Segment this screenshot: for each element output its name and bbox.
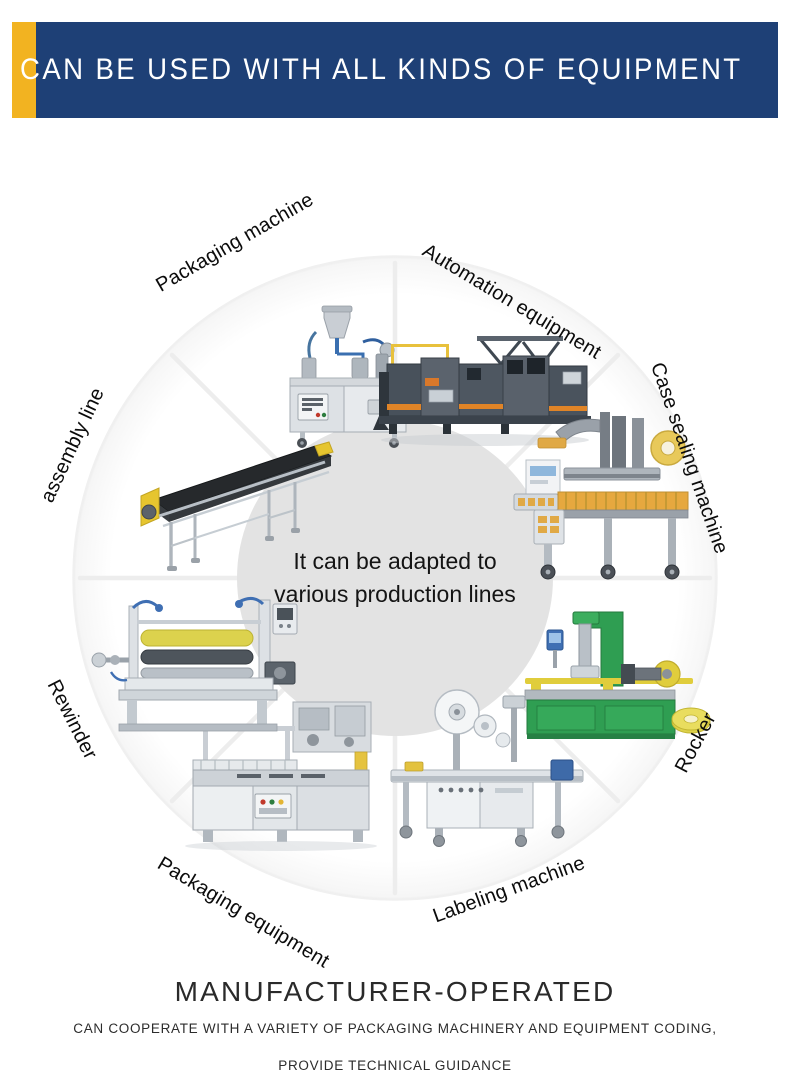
infographic-page: CAN BE USED WITH ALL KINDS OF EQUIPMENT: [0, 0, 790, 1076]
footer: MANUFACTURER-OPERATED CAN COOPERATE WITH…: [0, 975, 790, 1073]
labeling-machine-icon: [383, 686, 591, 849]
footer-line-1: CAN COOPERATE WITH A VARIETY OF PACKAGIN…: [0, 1021, 790, 1036]
segment-image-assembly-line: [118, 425, 338, 580]
segment-image-labeling-machine: [382, 685, 592, 850]
capability-wheel: It can be adapted to various production …: [72, 255, 718, 901]
rewinder-machine-icon: [89, 586, 307, 734]
conveyor-belt-icon: [119, 426, 337, 579]
footer-line-2: PROVIDE TECHNICAL GUIDANCE: [0, 1058, 790, 1073]
footer-headline: MANUFACTURER-OPERATED: [0, 975, 790, 1009]
segment-image-rewinder: [88, 585, 308, 735]
header-title: CAN BE USED WITH ALL KINDS OF EQUIPMENT: [20, 22, 717, 118]
